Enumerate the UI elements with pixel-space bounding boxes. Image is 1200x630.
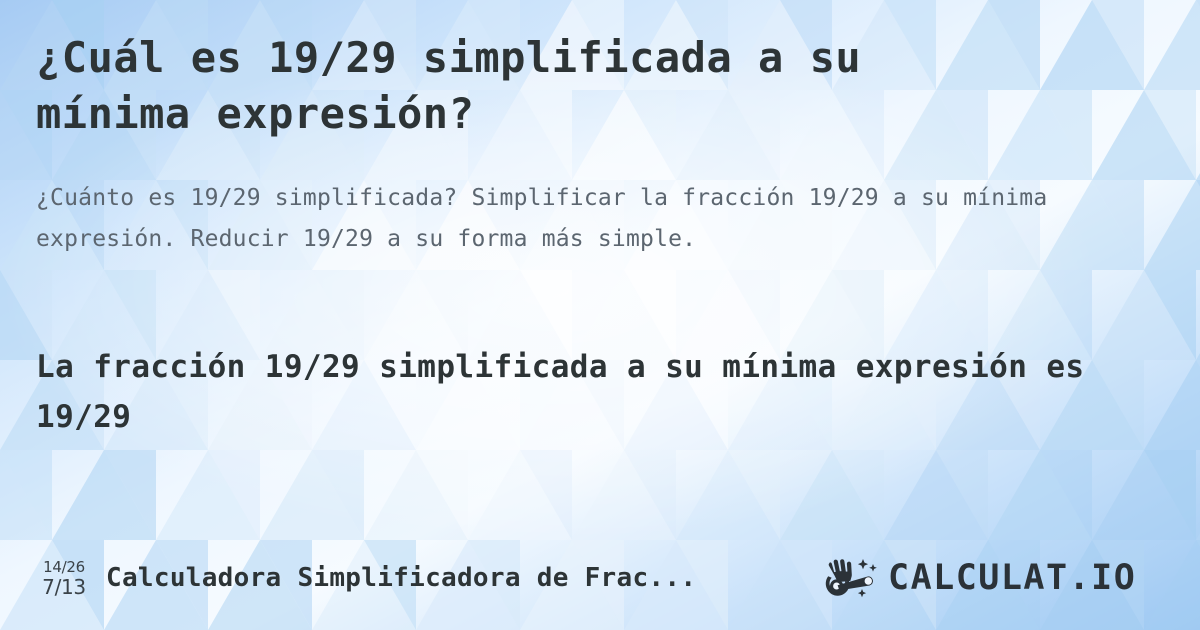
fraction-icon-top: 14/26: [43, 560, 85, 575]
calculatio-wordmark-text: CALCULAT.IO: [888, 558, 1136, 598]
hand-magic-wand-icon: [820, 556, 882, 600]
card-footer: 14/26 7/13 Calculadora Simplificadora de…: [0, 552, 1200, 604]
fraction-icon: 14/26 7/13: [36, 560, 92, 597]
footer-left-group: 14/26 7/13 Calculadora Simplificadora de…: [36, 560, 696, 597]
answer-statement: La fracción 19/29 simplificada a su míni…: [36, 342, 1096, 442]
brand-logo[interactable]: CALCULAT.IO: [820, 556, 1164, 600]
calculatio-wordmark: CALCULAT.IO: [888, 558, 1164, 598]
social-card: ¿Cuál es 19/29 simplificada a su mínima …: [0, 0, 1200, 630]
card-content: ¿Cuál es 19/29 simplificada a su mínima …: [0, 0, 1200, 630]
page-description: ¿Cuánto es 19/29 simplificada? Simplific…: [36, 178, 1121, 260]
site-title: Calculadora Simplificadora de Frac...: [106, 563, 696, 593]
fraction-icon-bottom: 7/13: [42, 577, 86, 597]
page-title: ¿Cuál es 19/29 simplificada a su mínima …: [36, 30, 1036, 142]
